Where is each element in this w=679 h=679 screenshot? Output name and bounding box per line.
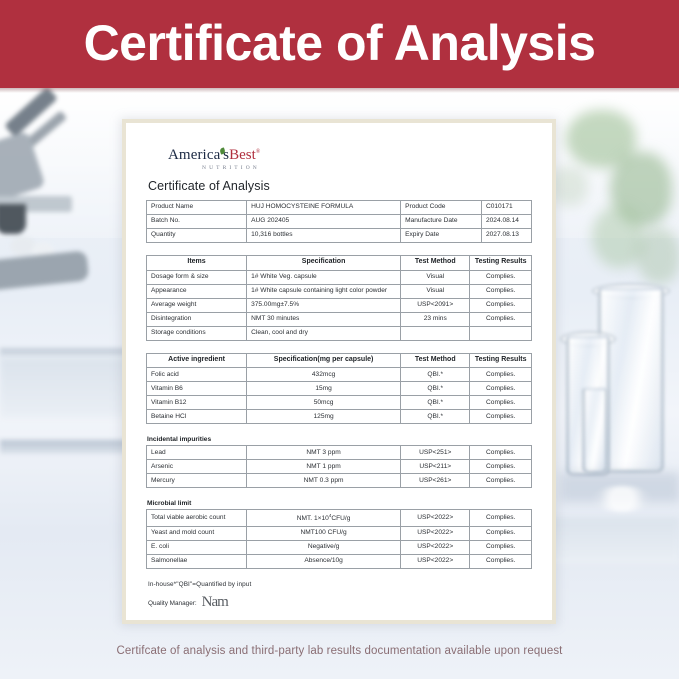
impurity-test-method: USP<261> xyxy=(401,474,470,488)
item-testing-result: Complies. xyxy=(470,284,532,298)
ingredient-testing-result: Complies. xyxy=(470,396,532,410)
item-test-method: Visual xyxy=(401,270,470,284)
item-specification: NMT 30 minutes xyxy=(247,312,401,326)
microbial-specification: Negative/g xyxy=(247,540,401,554)
item-test-method xyxy=(401,326,470,340)
testing-results-header: Testing Results xyxy=(470,353,532,368)
microbial-testing-result: Complies. xyxy=(470,554,532,568)
microbial-specification: Absence/10g xyxy=(247,554,401,568)
registered-trademark-icon: ® xyxy=(256,149,261,155)
table-row: Storage conditions Clean, cool and dry xyxy=(147,326,532,340)
table-row: Arsenic NMT 1 ppm USP<211> Complies. xyxy=(147,460,532,474)
item-testing-result xyxy=(470,326,532,340)
item-specification: Clean, cool and dry xyxy=(247,326,401,340)
microscope-objective xyxy=(0,204,26,234)
ingredient-test-method: QBI.* xyxy=(401,396,470,410)
microscope-illustration xyxy=(0,96,118,336)
section-spacer xyxy=(146,424,532,436)
section-spacer xyxy=(146,341,532,353)
ingredient-specification: 50mcg xyxy=(247,396,401,410)
item-name: Disintegration xyxy=(147,312,247,326)
items-header: Items xyxy=(147,256,247,271)
product-code-value: C010171 xyxy=(481,201,531,215)
table-row: Lead NMT 3 ppm USP<251> Complies. xyxy=(147,446,532,460)
ingredient-test-method: QBI.* xyxy=(401,410,470,424)
brand-tagline: NUTRITION xyxy=(202,165,532,171)
ingredient-name: Folic acid xyxy=(147,368,247,382)
batch-no-value: AUG 202405 xyxy=(247,215,401,229)
expiry-date-label: Expiry Date xyxy=(401,229,482,243)
document-title: Certificate of Analysis xyxy=(148,179,532,193)
table-row: Yeast and mold count NMT100 CFU/g USP<20… xyxy=(147,526,532,540)
impurity-test-method: USP<211> xyxy=(401,460,470,474)
signature-block: Quality Manager: Nam xyxy=(148,597,532,607)
testing-results-header: Testing Results xyxy=(470,256,532,271)
item-name: Storage conditions xyxy=(147,326,247,340)
specification-header: Specification(mg per capsule) xyxy=(247,353,401,368)
table-row: Folic acid 432mcg QBI.* Complies. xyxy=(147,368,532,382)
table-row: Product Name HUJ HOMOCYSTEINE FORMULA Pr… xyxy=(147,201,532,215)
table-row: Salmonellae Absence/10g USP<2022> Compli… xyxy=(147,554,532,568)
microbial-name: Salmonellae xyxy=(147,554,247,568)
impurity-specification: NMT 3 ppm xyxy=(247,446,401,460)
item-test-method: USP<2091> xyxy=(401,298,470,312)
item-testing-result: Complies. xyxy=(470,270,532,284)
batch-no-label: Batch No. xyxy=(147,215,247,229)
test-tube xyxy=(582,388,608,474)
item-test-method: 23 mins xyxy=(401,312,470,326)
microbial-test-method: USP<2022> xyxy=(401,510,470,526)
table-row: Average weight 375.00mg±7.5% USP<2091> C… xyxy=(147,298,532,312)
page-header: Certificate of Analysis xyxy=(0,0,679,88)
quantity-label: Quantity xyxy=(147,229,247,243)
test-method-header: Test Method xyxy=(401,353,470,368)
ingredient-testing-result: Complies. xyxy=(470,368,532,382)
impurity-test-method: USP<251> xyxy=(401,446,470,460)
header-drop-shadow xyxy=(0,88,679,93)
product-code-label: Product Code xyxy=(401,201,482,215)
product-name-label: Product Name xyxy=(147,201,247,215)
quality-manager-label: Quality Manager: xyxy=(148,600,197,607)
ingredient-test-method: QBI.* xyxy=(401,368,470,382)
impurity-name: Lead xyxy=(147,446,247,460)
microbial-spec-base: NMT. 1×10 xyxy=(297,515,329,522)
test-tube-glass xyxy=(582,388,608,474)
table-row: Vitamin B6 15mg QBI.* Complies. xyxy=(147,382,532,396)
footer-disclaimer: Certifcate of analysis and third-party l… xyxy=(0,645,679,657)
ingredient-testing-result: Complies. xyxy=(470,382,532,396)
expiry-date-value: 2027.08.13 xyxy=(481,229,531,243)
qbi-footnote: In-house*"QBI"=Quantified by input xyxy=(148,581,532,588)
ingredient-name: Vitamin B12 xyxy=(147,396,247,410)
microbial-testing-result: Complies. xyxy=(470,510,532,526)
item-name: Average weight xyxy=(147,298,247,312)
item-specification: 1# White capsule containing light color … xyxy=(247,284,401,298)
quantity-value: 10,316 bottles xyxy=(247,229,401,243)
item-specification: 1# White Veg. capsule xyxy=(247,270,401,284)
ingredient-testing-result: Complies. xyxy=(470,410,532,424)
section-spacer xyxy=(146,488,532,500)
ingredient-test-method: QBI.* xyxy=(401,382,470,396)
product-name-value: HUJ HOMOCYSTEINE FORMULA xyxy=(247,201,401,215)
incidental-impurities-label: Incidental impurities xyxy=(147,436,532,443)
impurity-specification: NMT 0.3 ppm xyxy=(247,474,401,488)
impurity-testing-result: Complies. xyxy=(470,474,532,488)
impurity-name: Arsenic xyxy=(147,460,247,474)
microbial-name: E. coli xyxy=(147,540,247,554)
ingredient-specification: 15mg xyxy=(247,382,401,396)
test-method-header: Test Method xyxy=(401,256,470,271)
microbial-test-method: USP<2022> xyxy=(401,540,470,554)
items-specification-table: Items Specification Test Method Testing … xyxy=(146,255,532,341)
impurity-name: Mercury xyxy=(147,474,247,488)
active-ingredient-table: Active ingredient Specification(mg per c… xyxy=(146,353,532,425)
table-row: Disintegration NMT 30 minutes 23 mins Co… xyxy=(147,312,532,326)
table-row: Mercury NMT 0.3 ppm USP<261> Complies. xyxy=(147,474,532,488)
impurity-specification: NMT 1 ppm xyxy=(247,460,401,474)
table-row: Dosage form & size 1# White Veg. capsule… xyxy=(147,270,532,284)
microbial-testing-result: Complies. xyxy=(470,526,532,540)
table-row: Quantity 10,316 bottles Expiry Date 2027… xyxy=(147,229,532,243)
table-header-row: Active ingredient Specification(mg per c… xyxy=(147,353,532,368)
microbial-testing-result: Complies. xyxy=(470,540,532,554)
bokeh-highlight xyxy=(592,486,652,512)
item-testing-result: Complies. xyxy=(470,298,532,312)
brand-logo: America'sBest® NUTRITION xyxy=(168,145,532,171)
impurity-testing-result: Complies. xyxy=(470,446,532,460)
item-name: Appearance xyxy=(147,284,247,298)
specification-header: Specification xyxy=(247,256,401,271)
active-ingredient-header: Active ingredient xyxy=(147,353,247,368)
foliage-blur xyxy=(636,228,679,284)
brand-logo-wordmark: America'sBest® xyxy=(168,145,532,163)
ingredient-name: Vitamin B6 xyxy=(147,382,247,396)
microbial-name: Total viable aerobic count xyxy=(147,510,247,526)
microscope-base xyxy=(0,250,89,291)
ingredient-specification: 432mcg xyxy=(247,368,401,382)
ingredient-name: Betaine HCl xyxy=(147,410,247,424)
ingredient-specification: 125mg xyxy=(247,410,401,424)
page-title: Certificate of Analysis xyxy=(84,18,596,68)
table-row: Appearance 1# White capsule containing l… xyxy=(147,284,532,298)
table-row: E. coli Negative/g USP<2022> Complies. xyxy=(147,540,532,554)
impurity-testing-result: Complies. xyxy=(470,460,532,474)
microbial-spec-unit: CFU/g xyxy=(331,515,350,522)
manufacture-date-value: 2024.08.14 xyxy=(481,215,531,229)
product-info-table: Product Name HUJ HOMOCYSTEINE FORMULA Pr… xyxy=(146,200,532,243)
incidental-impurities-table: Lead NMT 3 ppm USP<251> Complies. Arseni… xyxy=(146,445,532,488)
microbial-name: Yeast and mold count xyxy=(147,526,247,540)
microbial-test-method: USP<2022> xyxy=(401,526,470,540)
table-row: Batch No. AUG 202405 Manufacture Date 20… xyxy=(147,215,532,229)
microbial-test-method: USP<2022> xyxy=(401,554,470,568)
item-specification: 375.00mg±7.5% xyxy=(247,298,401,312)
table-row: Vitamin B12 50mcg QBI.* Complies. xyxy=(147,396,532,410)
item-testing-result: Complies. xyxy=(470,312,532,326)
microbial-limit-table: Total viable aerobic count NMT. 1×104CFU… xyxy=(146,509,532,568)
certificate-document: America'sBest® NUTRITION Certificate of … xyxy=(122,119,556,624)
microbial-specification: NMT100 CFU/g xyxy=(247,526,401,540)
table-header-row: Items Specification Test Method Testing … xyxy=(147,256,532,271)
item-name: Dosage form & size xyxy=(147,270,247,284)
brand-name-secondary: Best xyxy=(229,147,256,163)
table-row: Total viable aerobic count NMT. 1×104CFU… xyxy=(147,510,532,526)
signature-mark: Nam xyxy=(202,597,228,607)
microbial-limit-label: Microbial limit xyxy=(147,500,532,507)
manufacture-date-label: Manufacture Date xyxy=(401,215,482,229)
item-test-method: Visual xyxy=(401,284,470,298)
table-row: Betaine HCl 125mg QBI.* Complies. xyxy=(147,410,532,424)
microbial-specification: NMT. 1×104CFU/g xyxy=(247,510,401,526)
section-spacer xyxy=(146,243,532,255)
